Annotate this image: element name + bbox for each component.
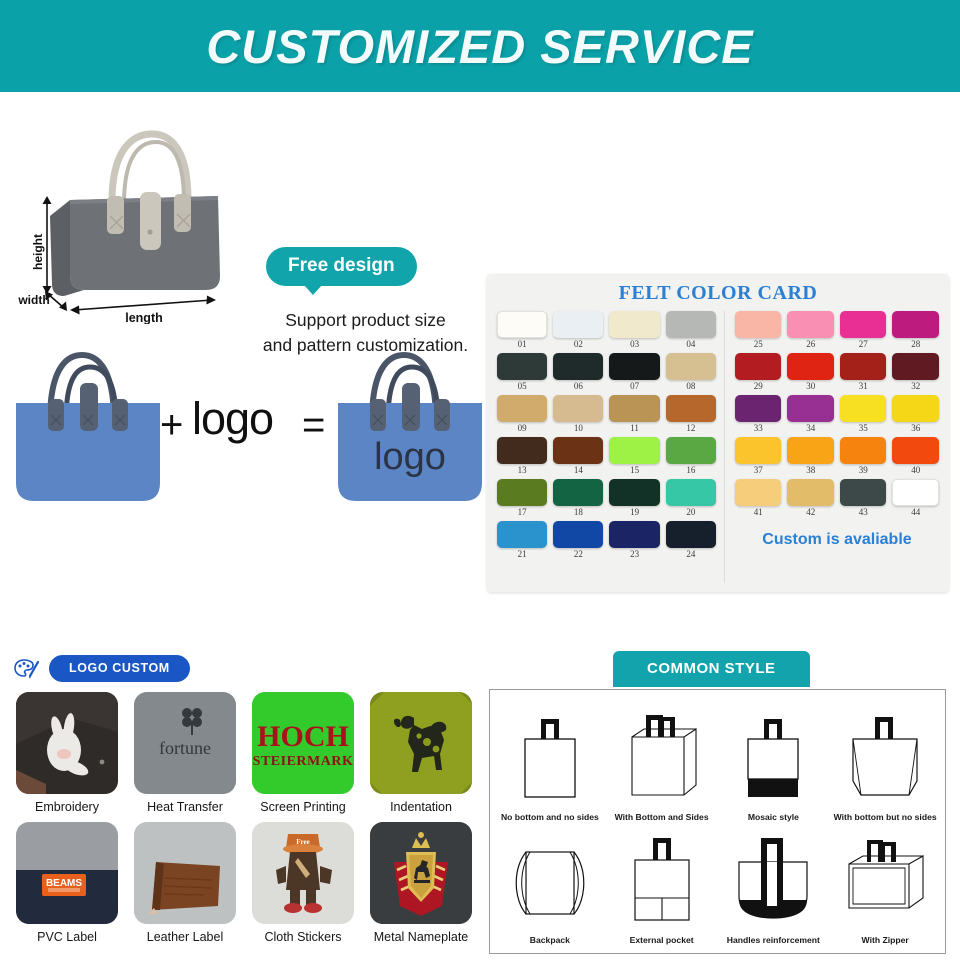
felt-swatch-number: 40	[892, 464, 939, 477]
felt-swatch-chip	[497, 437, 547, 464]
gallery-label: Metal Nameplate	[368, 930, 474, 944]
page-title: CUSTOMIZED SERVICE	[206, 19, 753, 74]
bag-dimension-illustration: height width length	[12, 104, 272, 324]
heat-transfer-thumbnail: fortune	[134, 692, 236, 794]
screen-print-line2: STEIERMARK	[253, 754, 354, 769]
felt-swatch-chip	[735, 353, 782, 380]
free-design-badge: Free design	[266, 247, 417, 286]
felt-swatch-chip	[735, 395, 782, 422]
felt-swatch[interactable]: 30	[787, 353, 834, 393]
felt-swatch[interactable]: 39	[840, 437, 887, 477]
style-item: Backpack	[494, 822, 606, 946]
gallery-item[interactable]: Embroidery	[14, 692, 120, 814]
felt-swatch-number: 15	[609, 464, 659, 477]
felt-swatch[interactable]: 13	[497, 437, 547, 477]
felt-swatch-chip	[666, 311, 716, 338]
design-description-line1: Support product size	[258, 308, 473, 333]
felt-swatch[interactable]: 16	[666, 437, 716, 477]
felt-swatch-number: 06	[553, 380, 603, 393]
felt-swatch[interactable]: 02	[553, 311, 603, 351]
felt-swatch-chip	[892, 437, 939, 464]
felt-swatch-number: 41	[735, 506, 782, 519]
felt-swatch-number: 35	[840, 422, 887, 435]
felt-swatch-chip	[840, 311, 887, 338]
felt-swatch[interactable]: 18	[553, 479, 603, 519]
style-art-backpack	[506, 832, 594, 928]
felt-swatch[interactable]: 40	[892, 437, 939, 477]
felt-swatch-chip	[609, 353, 659, 380]
gallery-item[interactable]: fortune Heat Transfer	[132, 692, 238, 814]
felt-swatch-number: 07	[609, 380, 659, 393]
style-label: No bottom and no sides	[501, 812, 599, 822]
felt-swatch-chip	[609, 479, 659, 506]
style-item: With Bottom and Sides	[606, 698, 718, 822]
style-label: With bottom but no sides	[834, 812, 937, 822]
felt-swatch[interactable]: 33	[735, 395, 782, 435]
felt-swatch[interactable]: 28	[892, 311, 939, 351]
felt-swatch-number: 16	[666, 464, 716, 477]
gallery-item[interactable]: Metal Nameplate	[368, 822, 474, 944]
felt-swatch[interactable]: 19	[609, 479, 659, 519]
felt-swatch[interactable]: 15	[609, 437, 659, 477]
gallery-item[interactable]: Indentation	[368, 692, 474, 814]
felt-swatch-chip	[553, 353, 603, 380]
felt-swatch-chip	[840, 479, 887, 506]
felt-swatch[interactable]: 37	[735, 437, 782, 477]
felt-swatch-number: 28	[892, 338, 939, 351]
felt-swatch[interactable]: 35	[840, 395, 887, 435]
felt-swatch-number: 30	[787, 380, 834, 393]
felt-swatch-chip	[892, 311, 939, 338]
style-item: With bottom but no sides	[829, 698, 941, 822]
embroidery-thumbnail	[16, 692, 118, 794]
felt-swatch[interactable]: 10	[553, 395, 603, 435]
felt-swatch[interactable]: 43	[840, 479, 887, 519]
gallery-label: Leather Label	[132, 930, 238, 944]
logo-formula: + logo = logo	[0, 337, 480, 517]
felt-swatch-number: 27	[840, 338, 887, 351]
felt-swatch-number: 43	[840, 506, 887, 519]
felt-swatch-number: 32	[892, 380, 939, 393]
felt-swatch-number: 25	[735, 338, 782, 351]
style-art-with-bottom-no-sides	[839, 709, 931, 805]
pvc-label-thumbnail: BEAMS	[16, 822, 118, 924]
felt-swatch-chip	[497, 311, 547, 338]
style-label: Mosaic style	[748, 812, 799, 822]
bottom-section: LOGO CUSTOM COMMON STYLE Emb	[0, 527, 960, 960]
felt-swatch-number: 14	[553, 464, 603, 477]
felt-swatch[interactable]: 26	[787, 311, 834, 351]
logo-custom-heading: LOGO CUSTOM	[14, 655, 190, 682]
dimension-label-height: height	[31, 234, 45, 270]
gallery-label: Embroidery	[14, 800, 120, 814]
style-art-mosaic	[730, 709, 816, 805]
screen-print-line1: HOCH	[257, 720, 349, 753]
felt-swatch-chip	[666, 479, 716, 506]
felt-swatch[interactable]: 36	[892, 395, 939, 435]
felt-swatch-number: 11	[609, 422, 659, 435]
felt-swatch-chip	[840, 437, 887, 464]
felt-swatch[interactable]: 25	[735, 311, 782, 351]
felt-swatch-number: 29	[735, 380, 782, 393]
common-style-heading: COMMON STYLE	[613, 651, 810, 687]
felt-swatch[interactable]: 07	[609, 353, 659, 393]
design-section: height width length Free design Support …	[0, 92, 960, 527]
style-item: With Zipper	[829, 822, 941, 946]
felt-swatch-number: 42	[787, 506, 834, 519]
felt-swatch-chip	[609, 437, 659, 464]
style-label: With Zipper	[862, 935, 909, 945]
felt-swatch-number: 13	[497, 464, 547, 477]
blue-bag-plain	[8, 343, 168, 513]
common-style-panel: No bottom and no sides With Bottom and	[489, 689, 946, 954]
felt-swatch[interactable]: 31	[840, 353, 887, 393]
felt-swatch-chip	[892, 479, 939, 506]
felt-swatch-number: 18	[553, 506, 603, 519]
felt-swatch-number: 05	[497, 380, 547, 393]
felt-swatch-number: 36	[892, 422, 939, 435]
felt-swatch[interactable]: 05	[497, 353, 547, 393]
felt-swatch[interactable]: 12	[666, 395, 716, 435]
felt-swatch[interactable]: 38	[787, 437, 834, 477]
felt-swatch[interactable]: 11	[609, 395, 659, 435]
heat-transfer-text: fortune	[159, 738, 211, 758]
felt-swatch-number: 39	[840, 464, 887, 477]
felt-swatch-chip	[787, 437, 834, 464]
felt-swatch[interactable]: 08	[666, 353, 716, 393]
felt-swatch[interactable]: 17	[497, 479, 547, 519]
felt-swatch-chip	[787, 395, 834, 422]
felt-swatch-chip	[840, 353, 887, 380]
dimension-label-width: width	[17, 293, 49, 307]
felt-swatch-chip	[553, 437, 603, 464]
felt-swatch-number: 34	[787, 422, 834, 435]
felt-swatch-number: 09	[497, 422, 547, 435]
gallery-item[interactable]: Leather Label	[132, 822, 238, 944]
gallery-item[interactable]: Free Cloth Stickers	[250, 822, 356, 944]
page-header: CUSTOMIZED SERVICE	[0, 0, 960, 92]
felt-swatch-number: 31	[840, 380, 887, 393]
leather-label-thumbnail	[134, 822, 236, 924]
felt-swatch[interactable]: 34	[787, 395, 834, 435]
printed-logo-text: logo	[374, 436, 446, 478]
style-label: Backpack	[530, 935, 570, 945]
felt-swatch-number: 19	[609, 506, 659, 519]
style-art-no-bottom-no-sides	[507, 709, 593, 805]
metal-nameplate-thumbnail	[370, 822, 472, 924]
felt-swatch-chip	[735, 479, 782, 506]
felt-swatch-number: 10	[553, 422, 603, 435]
felt-swatch-chip	[892, 353, 939, 380]
felt-swatch-chip	[892, 395, 939, 422]
felt-swatch-number: 38	[787, 464, 834, 477]
style-item: No bottom and no sides	[494, 698, 606, 822]
felt-swatch-number: 17	[497, 506, 547, 519]
felt-swatch[interactable]: 42	[787, 479, 834, 519]
formula-plus-sign: +	[160, 403, 183, 448]
style-label: External pocket	[630, 935, 694, 945]
felt-swatch-number: 03	[609, 338, 659, 351]
felt-swatch-number: 44	[892, 506, 939, 519]
felt-swatch[interactable]: 32	[892, 353, 939, 393]
gallery-label: Cloth Stickers	[250, 930, 356, 944]
felt-swatch[interactable]: 01	[497, 311, 547, 351]
indentation-thumbnail	[370, 692, 472, 794]
felt-swatch[interactable]: 20	[666, 479, 716, 519]
felt-swatch-chip	[735, 311, 782, 338]
logo-custom-badge: LOGO CUSTOM	[49, 655, 190, 682]
felt-swatch[interactable]: 29	[735, 353, 782, 393]
felt-swatch-chip	[787, 353, 834, 380]
felt-swatch-number: 26	[787, 338, 834, 351]
blue-bag-with-logo: logo	[330, 343, 490, 513]
cloth-stickers-thumbnail: Free	[252, 822, 354, 924]
felt-swatch[interactable]: 27	[840, 311, 887, 351]
style-label: Handles reinforcement	[727, 935, 820, 945]
felt-swatch[interactable]: 14	[553, 437, 603, 477]
style-art-external-pocket	[619, 832, 705, 928]
common-style-tab: COMMON STYLE	[613, 651, 810, 687]
felt-swatch-chip	[497, 353, 547, 380]
felt-swatch-chip	[497, 479, 547, 506]
felt-swatch-number: 08	[666, 380, 716, 393]
gallery-item[interactable]: HOCH STEIERMARK Screen Printing	[250, 692, 356, 814]
style-item: External pocket	[606, 822, 718, 946]
logo-technique-gallery: Embroidery fortune Heat Transfer	[14, 692, 474, 944]
style-art-with-bottom-and-sides	[616, 709, 708, 805]
felt-swatch-chip	[497, 395, 547, 422]
felt-swatch-number: 37	[735, 464, 782, 477]
felt-swatch[interactable]: 03	[609, 311, 659, 351]
felt-swatch-chip	[666, 437, 716, 464]
gallery-label: PVC Label	[14, 930, 120, 944]
felt-swatch[interactable]: 44	[892, 479, 939, 519]
felt-swatch-chip	[609, 395, 659, 422]
felt-swatch-chip	[553, 395, 603, 422]
screen-printing-thumbnail: HOCH STEIERMARK	[252, 692, 354, 794]
felt-swatch-chip	[609, 311, 659, 338]
felt-swatch-chip	[666, 353, 716, 380]
palette-brush-icon	[14, 658, 40, 680]
felt-swatch-number: 04	[666, 338, 716, 351]
felt-swatch[interactable]: 06	[553, 353, 603, 393]
felt-swatch[interactable]: 41	[735, 479, 782, 519]
style-item: Mosaic style	[718, 698, 830, 822]
felt-swatch[interactable]: 09	[497, 395, 547, 435]
felt-swatch-number: 02	[553, 338, 603, 351]
felt-card-title: FELT COLOR CARD	[497, 282, 939, 305]
felt-swatch-chip	[553, 479, 603, 506]
felt-swatch-chip	[787, 479, 834, 506]
gallery-item[interactable]: BEAMS PVC Label	[14, 822, 120, 944]
felt-swatch-chip	[787, 311, 834, 338]
gallery-label: Indentation	[368, 800, 474, 814]
felt-swatch-number: 12	[666, 422, 716, 435]
formula-equals-sign: =	[302, 403, 325, 448]
felt-swatch-number: 33	[735, 422, 782, 435]
style-art-handles-reinforcement	[727, 832, 819, 928]
gallery-label: Heat Transfer	[132, 800, 238, 814]
formula-logo-word: logo	[192, 393, 273, 445]
cloth-sticker-text: Free	[296, 838, 309, 846]
style-art-with-zipper	[837, 832, 933, 928]
felt-swatch[interactable]: 04	[666, 311, 716, 351]
gallery-label: Screen Printing	[250, 800, 356, 814]
felt-swatch-chip	[840, 395, 887, 422]
pvc-label-text: BEAMS	[46, 878, 82, 889]
felt-swatch-chip	[735, 437, 782, 464]
style-item: Handles reinforcement	[718, 822, 830, 946]
style-label: With Bottom and Sides	[615, 812, 709, 822]
felt-swatch-number: 20	[666, 506, 716, 519]
felt-swatch-chip	[666, 395, 716, 422]
felt-swatch-chip	[553, 311, 603, 338]
dimension-label-length: length	[125, 311, 163, 324]
felt-swatch-number: 01	[497, 338, 547, 351]
